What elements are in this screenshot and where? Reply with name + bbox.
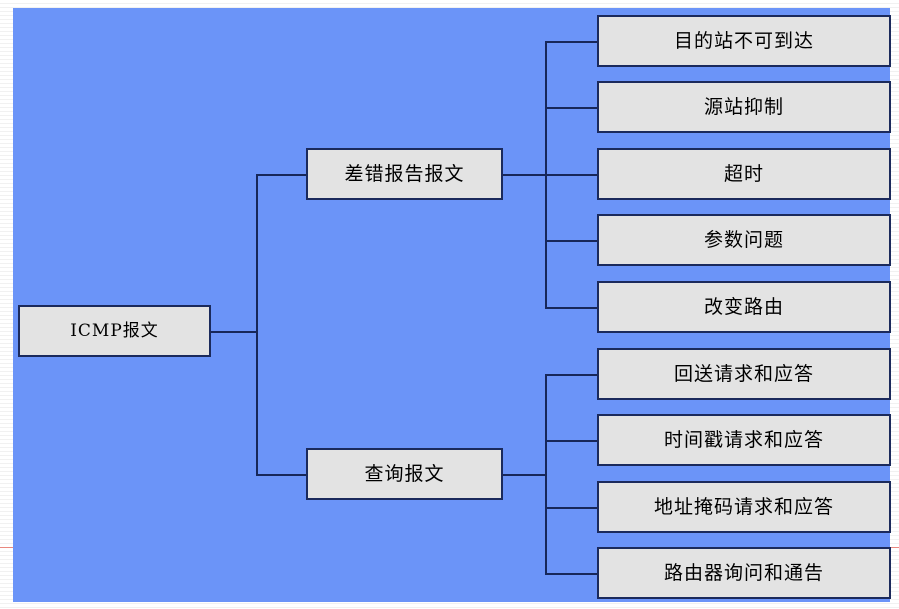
node-branch-error-report[interactable]: 差错报告报文: [306, 148, 503, 200]
node-label: 查询报文: [364, 465, 444, 484]
node-label: 源站抑制: [704, 98, 784, 117]
node-leaf-echo-request-reply[interactable]: 回送请求和应答: [597, 348, 891, 400]
connector-branch-1-child-1: [545, 440, 597, 442]
connector-branch-0-child-2: [545, 174, 597, 176]
connector-main-trunk: [256, 174, 258, 334]
node-leaf-router-solicitation-advertisement[interactable]: 路由器询问和通告: [597, 547, 891, 599]
node-leaf-redirect[interactable]: 改变路由: [597, 281, 891, 333]
connector-branch-0-child-1: [545, 107, 597, 109]
node-label: 路由器询问和通告: [664, 564, 824, 583]
node-leaf-address-mask-request-reply[interactable]: 地址掩码请求和应答: [597, 481, 891, 533]
connector-branch-1-trunk-upper: [545, 374, 547, 475]
node-label: 改变路由: [704, 298, 784, 317]
connector-branch-1-child-3: [545, 573, 597, 575]
connector-branch-1-child-2: [545, 507, 597, 509]
connector-trunk-to-branch-0: [256, 174, 306, 176]
node-label: 超时: [724, 165, 764, 184]
node-leaf-destination-unreachable[interactable]: 目的站不可到达: [597, 15, 891, 67]
connector-branch-0-child-4: [545, 307, 597, 309]
connector-branch-1-child-0: [545, 374, 597, 376]
connector-branch-1-trunk-lower: [545, 474, 547, 574]
node-leaf-timestamp-request-reply[interactable]: 时间戳请求和应答: [597, 414, 891, 466]
node-label: 差错报告报文: [344, 165, 464, 184]
node-leaf-time-exceeded[interactable]: 超时: [597, 148, 891, 200]
node-label: 回送请求和应答: [674, 365, 814, 384]
node-leaf-source-quench[interactable]: 源站抑制: [597, 81, 891, 133]
node-label: 地址掩码请求和应答: [654, 498, 834, 517]
diagram-canvas: ICMP报文 差错报告报文 查询报文 目的站不可到达 源站抑制 超时 参数问题 …: [13, 8, 890, 602]
page-sheet: ICMP报文 差错报告报文 查询报文 目的站不可到达 源站抑制 超时 参数问题 …: [0, 0, 899, 609]
node-label: 时间戳请求和应答: [664, 431, 824, 450]
connector-main-trunk-lower: [256, 331, 258, 476]
connector-root-stub: [211, 331, 257, 333]
node-branch-query[interactable]: 查询报文: [306, 448, 503, 500]
node-label: 参数问题: [704, 231, 784, 250]
node-root-icmp[interactable]: ICMP报文: [18, 305, 211, 357]
connector-branch-1-stub: [503, 474, 546, 476]
connector-branch-0-child-0: [545, 41, 597, 43]
connector-trunk-to-branch-1: [256, 474, 306, 476]
node-leaf-parameter-problem[interactable]: 参数问题: [597, 214, 891, 266]
connector-branch-0-stub: [503, 174, 546, 176]
node-label: 目的站不可到达: [674, 32, 814, 51]
connector-branch-0-child-3: [545, 240, 597, 242]
node-label: ICMP报文: [70, 323, 159, 340]
